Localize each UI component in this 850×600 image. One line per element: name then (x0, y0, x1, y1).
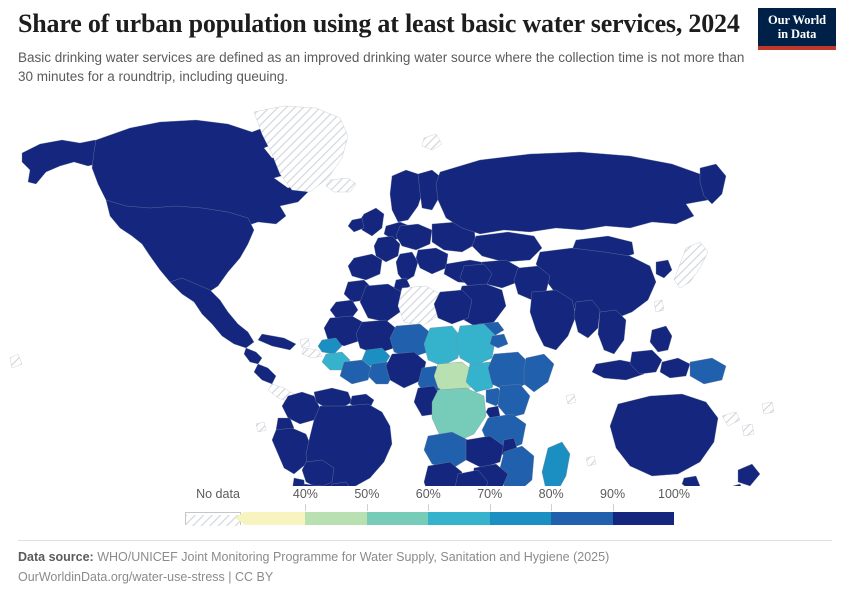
country-italy[interactable] (396, 252, 418, 282)
country-chile[interactable] (282, 478, 306, 486)
footer-divider (18, 540, 832, 541)
legend-no-data-swatch[interactable] (185, 512, 241, 525)
country-germany-poland[interactable] (396, 224, 432, 250)
legend-bin-5[interactable] (551, 512, 612, 525)
owid-logo-line1: Our World (768, 13, 826, 27)
country-new-zealand[interactable] (722, 464, 760, 486)
legend-color-scale[interactable]: 40%50%60%70%80%90%100% (244, 486, 674, 532)
legend-gradient-bar[interactable] (244, 512, 674, 525)
country-sulawesi-papua[interactable] (660, 358, 690, 378)
owid-logo[interactable]: Our World in Data (758, 8, 836, 50)
map-svg[interactable] (0, 96, 850, 486)
owid-logo-line2: in Data (778, 27, 817, 41)
country-svalbard-nodata[interactable] (422, 134, 442, 150)
country-taiwan-nodata[interactable] (654, 300, 664, 312)
country-sudan[interactable] (456, 324, 496, 366)
country-cuba[interactable] (258, 334, 296, 350)
country-libya-nodata[interactable] (398, 286, 440, 326)
owid-url-license[interactable]: OurWorldinData.org/water-use-stress | CC… (18, 568, 273, 586)
country-newcaledonia-nodata[interactable] (722, 412, 740, 426)
legend-tick-mark-4 (551, 504, 552, 511)
legend-tick-mark-1 (367, 504, 368, 511)
country-venezuela[interactable] (314, 388, 352, 408)
country-korea[interactable] (656, 260, 672, 278)
country-seychelles-nodata[interactable] (566, 394, 576, 404)
chart-header: Share of urban population using at least… (0, 0, 850, 96)
country-japan-nodata[interactable] (674, 242, 708, 288)
map-legend: No data 40%50%60%70%80%90%100% (0, 486, 850, 538)
legend-bin-2[interactable] (367, 512, 428, 525)
legend-bin-4[interactable] (490, 512, 551, 525)
region-south-america[interactable] (272, 388, 392, 486)
country-bangladesh-myanmar[interactable] (574, 300, 600, 338)
country-somalia[interactable] (524, 354, 554, 392)
legend-tick-1: 50% (354, 486, 379, 502)
country-thailand-indochina[interactable] (598, 310, 626, 354)
legend-tick-mark-5 (613, 504, 614, 511)
legend-tick-mark-2 (428, 504, 429, 511)
country-russia[interactable] (436, 152, 716, 234)
country-uk[interactable] (360, 208, 384, 236)
legend-bin-3[interactable] (428, 512, 489, 525)
chart-footer: Data source: WHO/UNICEF Joint Monitoring… (0, 540, 850, 600)
country-tasmania[interactable] (682, 476, 700, 486)
country-cabo-verde-nodata[interactable] (300, 338, 310, 348)
legend-bin-1[interactable] (305, 512, 366, 525)
legend-tick-mark-3 (490, 504, 491, 511)
legend-tick-mark-0 (305, 504, 306, 511)
country-algeria[interactable] (360, 284, 402, 322)
country-guatemala-belize[interactable] (244, 348, 262, 364)
legend-tick-6: 100% (658, 486, 690, 502)
legend-tick-labels: 40%50%60%70%80%90%100% (244, 486, 674, 510)
country-australia[interactable] (610, 394, 718, 476)
page-title: Share of urban population using at least… (18, 8, 758, 40)
data-source-text: Data source: WHO/UNICEF Joint Monitoring… (18, 548, 609, 566)
country-ireland[interactable] (348, 218, 364, 232)
country-pacific-islands-nodata[interactable] (742, 424, 754, 436)
country-india[interactable] (530, 290, 576, 350)
country-madagascar[interactable] (542, 442, 570, 486)
hatch-pattern-icon (186, 515, 240, 526)
country-spain-portugal[interactable] (348, 254, 382, 280)
legend-tick-5: 90% (600, 486, 625, 502)
country-papua-new-guinea[interactable] (690, 358, 726, 384)
country-atlantic-islet-nodata[interactable] (10, 354, 22, 368)
country-hispaniola-nodata[interactable] (302, 348, 322, 358)
country-chad[interactable] (424, 326, 462, 366)
chart-subtitle: Basic drinking water services are define… (18, 48, 750, 86)
legend-tick-3: 70% (477, 486, 502, 502)
world-choropleth-map[interactable] (0, 96, 850, 486)
data-source-value: WHO/UNICEF Joint Monitoring Programme fo… (97, 550, 609, 564)
legend-tick-0: 40% (293, 486, 318, 502)
country-kazakhstan[interactable] (472, 232, 542, 262)
legend-open-low-end-arrow (235, 512, 244, 524)
country-mauritius-nodata[interactable] (586, 456, 596, 466)
legend-bin-6[interactable] (613, 512, 674, 525)
country-fiji-nodata[interactable] (762, 402, 774, 414)
legend-tick-4: 80% (539, 486, 564, 502)
country-iceland-nodata[interactable] (326, 178, 356, 192)
country-kenya[interactable] (498, 384, 530, 418)
country-honduras-nicaragua[interactable] (254, 364, 276, 384)
country-philippines[interactable] (650, 326, 672, 352)
country-galapagos-nodata[interactable] (256, 422, 266, 432)
data-source-prefix: Data source: (18, 550, 94, 564)
legend-tick-2: 60% (416, 486, 441, 502)
country-balkans[interactable] (416, 248, 448, 274)
legend-bin-0[interactable] (244, 512, 305, 525)
